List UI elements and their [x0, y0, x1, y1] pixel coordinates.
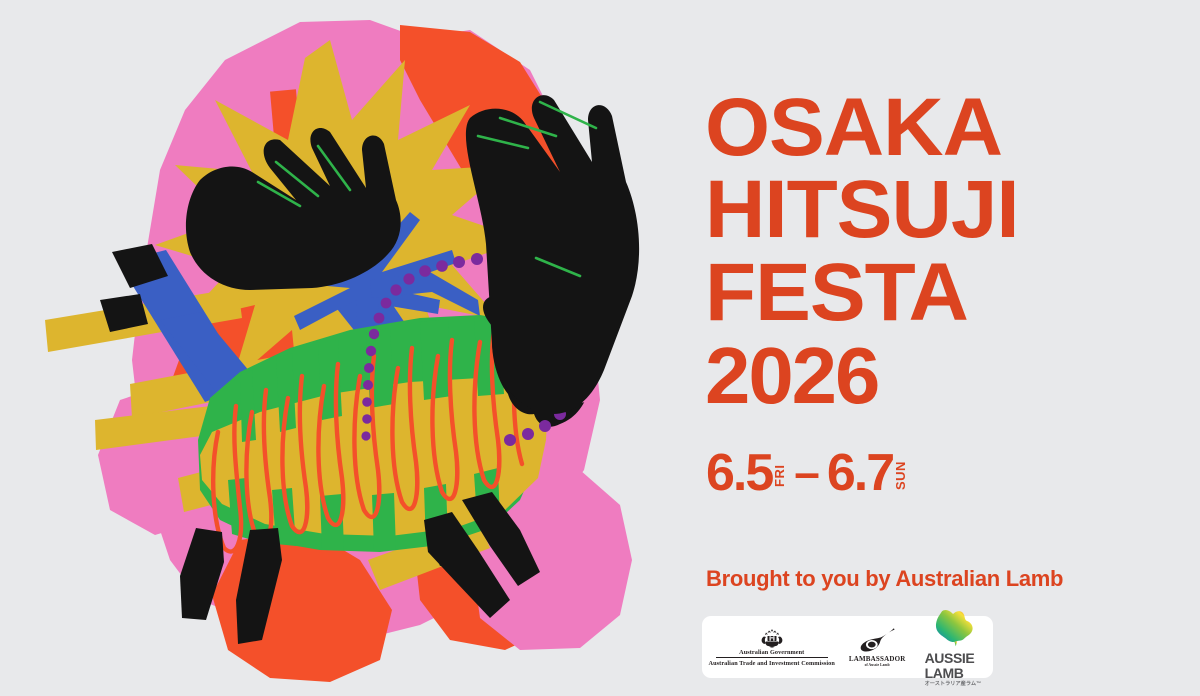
lambassador-subtitle: of Aussie Lamb: [865, 663, 890, 667]
australian-coat-of-arms-icon: [759, 628, 785, 648]
aussie-lamb-line-1: AUSSIE: [925, 651, 982, 665]
poster-text-column: OSAKA HITSUJI FESTA 2026 6.5 FRI – 6.7 S…: [700, 0, 1200, 696]
lamb-cutlet-icon: [857, 627, 897, 653]
event-date-range: 6.5 FRI – 6.7 SUN: [706, 447, 908, 499]
date-end-day: 6.7: [827, 447, 893, 499]
artwork-illustration: [0, 0, 660, 696]
date-start-day: 6.5: [706, 447, 772, 499]
australia-map-icon: [931, 607, 975, 647]
logo-australian-government: Australian Government Australian Trade a…: [714, 628, 830, 667]
aussie-lamb-line-3: オーストラリア産ラム™: [925, 682, 982, 687]
gov-logo-line-2: Australian Trade and Investment Commissi…: [709, 660, 835, 667]
sponsor-logo-card: Australian Government Australian Trade a…: [702, 616, 993, 678]
date-end-dow: SUN: [894, 457, 907, 495]
lambassador-name: LAMBASSADOR: [849, 655, 906, 663]
gov-logo-divider: [716, 657, 828, 658]
date-start-dow: FRI: [773, 457, 786, 495]
poster-title: OSAKA HITSUJI FESTA 2026: [705, 88, 1175, 417]
logo-lambassador: LAMBASSADOR of Aussie Lamb: [841, 627, 913, 668]
sponsor-tagline: Brought to you by Australian Lamb: [706, 566, 1063, 592]
title-year: 2026: [705, 337, 1184, 415]
title-line-1: OSAKA: [705, 88, 1184, 168]
date-separator: –: [794, 449, 820, 495]
logo-aussie-lamb: AUSSIE LAMB オーストラリア産ラム™: [925, 607, 982, 688]
gov-logo-line-1: Australian Government: [739, 649, 804, 656]
poster-canvas: OSAKA HITSUJI FESTA 2026 6.5 FRI – 6.7 S…: [0, 0, 1200, 696]
title-line-3: FESTA: [705, 253, 1184, 333]
title-line-2: HITSUJI: [705, 170, 1184, 250]
aussie-lamb-line-2: LAMB: [925, 666, 982, 680]
